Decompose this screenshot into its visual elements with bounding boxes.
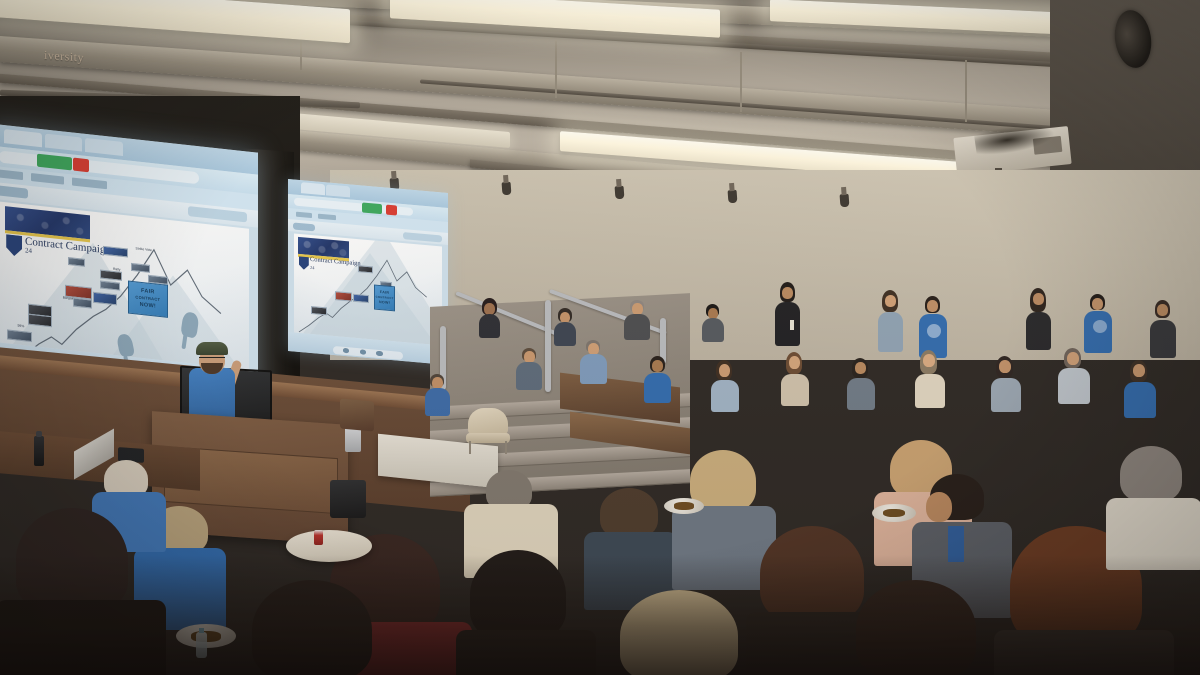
attendee-torso (580, 354, 607, 384)
sign-line-3: NOW! (379, 300, 390, 307)
lanyard-badge (790, 320, 794, 330)
attendee-torso (711, 380, 739, 412)
stage-chair[interactable] (340, 399, 374, 432)
attendee-hair (856, 580, 976, 675)
attendee-head (855, 362, 866, 374)
attendee-necktie (948, 526, 964, 562)
ceiling-light (0, 0, 350, 43)
timeline-thumbnail (335, 291, 352, 301)
attendee-hair (16, 508, 128, 612)
timeline-thumbnail (353, 293, 368, 302)
attendee-torso (994, 630, 1174, 675)
attendee-head (652, 360, 663, 372)
toolbar-buttons[interactable] (188, 206, 247, 223)
dock-play-icon[interactable] (360, 350, 366, 355)
attendee-torso (781, 374, 809, 406)
timeline-thumbnail (311, 306, 326, 315)
campaign-trend-line (294, 234, 443, 346)
attendee-head (719, 364, 730, 377)
attendee-union-shirt-torso (644, 373, 671, 403)
track-light-icon (615, 186, 625, 200)
attendee-head (926, 492, 952, 522)
food-item (674, 502, 694, 509)
attendee-torso (915, 374, 945, 408)
soda-can (314, 530, 323, 545)
attendee-torso (456, 630, 596, 675)
attendee-head (927, 300, 938, 312)
slide-canvas: Contract Campaign 24 FAIR CONTRACT NOW! (294, 234, 443, 346)
light-hanger (555, 40, 557, 98)
bookmark-item[interactable] (31, 173, 63, 185)
bookmark-item[interactable] (296, 211, 312, 218)
attendee-head (782, 287, 793, 299)
attendee-head (1067, 352, 1079, 365)
attendee-torso (991, 378, 1021, 412)
bookmark-item[interactable] (72, 178, 107, 190)
timeline-thumbnail (358, 265, 373, 274)
attendee-torso (516, 362, 542, 390)
food-plate (664, 498, 704, 514)
highlighted-tab-green[interactable] (37, 153, 72, 171)
app-logo (293, 222, 315, 231)
attendee-head (789, 356, 800, 369)
fair-contract-now-sign: FAIR CONTRACT NOW! (128, 281, 168, 318)
browser-tab[interactable] (326, 185, 350, 197)
presenter-cap (196, 342, 228, 355)
attendee-torso (847, 378, 875, 410)
fair-contract-now-sign: FAIR CONTRACT NOW! (374, 284, 395, 312)
dock-nav-icon[interactable] (343, 348, 349, 353)
light-hanger (740, 52, 742, 112)
attendee-torso (0, 600, 166, 675)
food-item (883, 509, 905, 517)
attendee-hair (600, 488, 658, 538)
auditorium-photo: Contract Campaign 24 99% Bargaining Rall… (0, 0, 1200, 675)
timeline-node-label: 99% (18, 325, 25, 329)
attendee-head (923, 354, 935, 367)
food-plate (872, 504, 916, 522)
browser-tab[interactable] (301, 183, 325, 195)
attendee-head (1133, 364, 1145, 377)
app-logo (0, 185, 28, 199)
attendee-hair (760, 526, 864, 622)
attendee-head (1092, 298, 1103, 310)
attendee-union-shirt-torso (1124, 382, 1156, 418)
attendee-head (1157, 304, 1168, 316)
cocktail-table (286, 530, 372, 562)
attendee-hair (1120, 446, 1182, 502)
water-bottle (196, 632, 207, 658)
browser-tab[interactable] (4, 129, 42, 148)
track-light-icon (840, 194, 850, 208)
highlighted-tab-red[interactable] (73, 157, 89, 172)
presenter-glasses-icon (199, 357, 225, 363)
browser-tab[interactable] (45, 133, 83, 152)
sign-line-3: NOW! (140, 301, 156, 311)
dock-fullscreen-icon[interactable] (376, 351, 382, 356)
toolbar-buttons[interactable] (403, 232, 441, 243)
attendee-hair (620, 590, 738, 675)
highlighted-tab-green[interactable] (362, 203, 383, 214)
bookmark-item[interactable] (318, 213, 336, 220)
attendee-hair (470, 550, 566, 640)
light-hanger (965, 60, 967, 122)
track-light-icon (502, 182, 512, 196)
highlighted-tab-red[interactable] (386, 205, 397, 216)
attendee-torso (1106, 498, 1200, 570)
attendee-torso (1058, 368, 1090, 404)
track-light-icon (728, 190, 738, 204)
attendee-head (999, 360, 1011, 373)
browser-tab[interactable] (85, 137, 123, 156)
attendee-hair (252, 580, 372, 675)
bookmark-item[interactable] (0, 170, 23, 181)
attendee-torso (425, 388, 450, 416)
attendee-head (1033, 293, 1044, 305)
attendee-head (885, 295, 896, 307)
